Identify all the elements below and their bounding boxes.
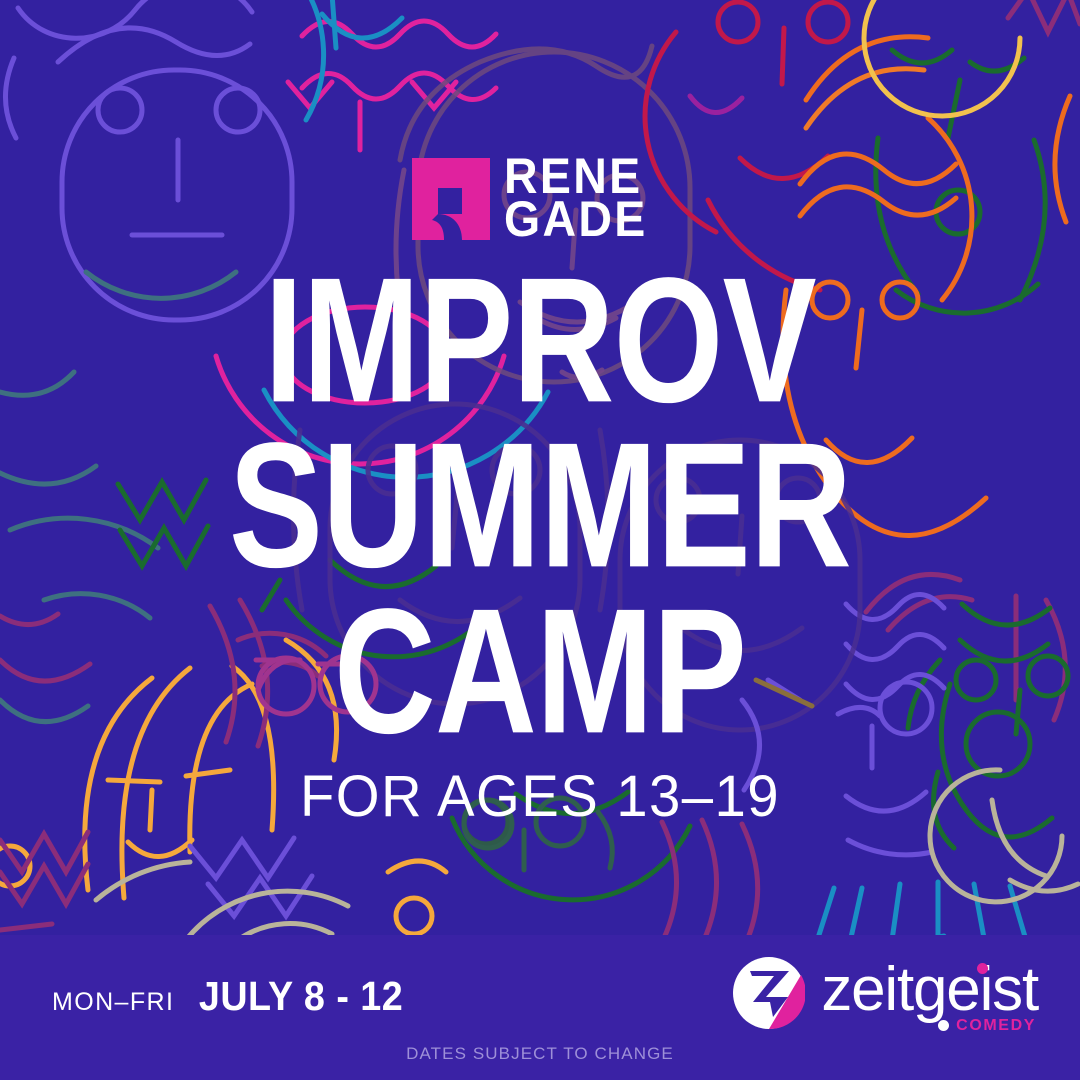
zeitgeist-tagline-dot-icon [938, 1020, 949, 1031]
headline-subtitle-ages: FOR AGES 13–19 [16, 768, 1064, 826]
zeitgeist-wordmark: zeitgeist [821, 965, 1038, 1015]
zeitgeist-z-badge [733, 957, 805, 1029]
headline-line-summer: SUMMER [86, 419, 993, 594]
headline-block: IMPROV SUMMER CAMP FOR AGES 13–19 [0, 258, 1080, 826]
poster-canvas: RENE GADE IMPROV SUMMER CAMP FOR AGES 13… [0, 0, 1080, 1080]
headline-line-camp: CAMP [86, 584, 993, 759]
zeitgeist-tagline-group: COMEDY [938, 1017, 1036, 1035]
dates-range: JULY 8 - 12 [199, 973, 403, 1020]
dates-disclaimer: DATES SUBJECT TO CHANGE [0, 1044, 1080, 1064]
zeitgeist-wordmark-group: zeitgeist COMEDY [821, 965, 1038, 1021]
headline-line-improv: IMPROV [86, 253, 993, 428]
renegade-name-line-2: GADE [504, 198, 648, 241]
renegade-wordmark: RENE GADE [504, 155, 658, 241]
zeitgeist-logo: zeitgeist COMEDY [733, 957, 1038, 1029]
dates-prefix: MON–FRI [52, 988, 174, 1017]
footer-bar: MON–FRI JULY 8 - 12 zeitgeist COMEDY D [0, 935, 1080, 1080]
footer-dates: MON–FRI JULY 8 - 12 [52, 973, 412, 1020]
zeitgeist-tagline: COMEDY [956, 1017, 1036, 1035]
renegade-logo: RENE GADE [412, 158, 658, 241]
renegade-r-mark [412, 158, 490, 240]
